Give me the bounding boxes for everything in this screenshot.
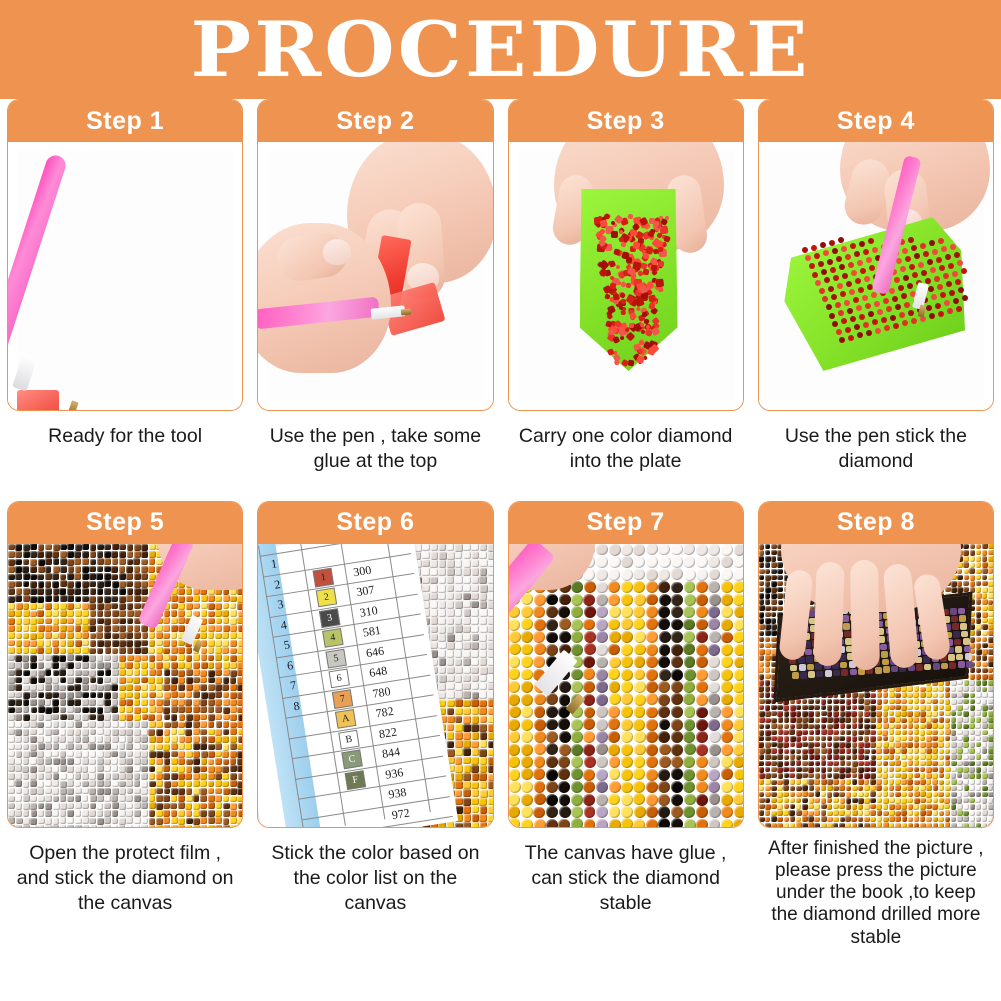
- step-card-7[interactable]: Step 7: [508, 501, 744, 828]
- step-photo-1: [8, 142, 242, 410]
- red-drill-cloud: [518, 151, 734, 401]
- step-caption-7: The canvas have glue , can stick the dia…: [508, 828, 744, 917]
- finger: [813, 561, 845, 666]
- step-card-6[interactable]: Step 6 SerialSymbolDMC121300323074331054…: [257, 501, 493, 828]
- step-caption-2: Use the pen , take some glue at the top: [257, 411, 493, 475]
- step-cell-2: Step 2: [250, 99, 500, 475]
- page-title: PROCEDURE: [190, 12, 810, 88]
- step-photo-8: [759, 544, 993, 827]
- step-header-7: Step 7: [509, 502, 743, 544]
- step-caption-6: Stick the color based on the color list …: [257, 828, 493, 917]
- step-cell-1: Step 1: [0, 99, 250, 475]
- step-header-label-1: Step 1: [86, 107, 164, 136]
- step-caption-4: Use the pen stick the diamond: [758, 411, 994, 475]
- pink-pen-icon: [8, 153, 68, 354]
- glue-square-icon: [17, 390, 59, 410]
- step-caption-8: After finished the picture , please pres…: [758, 828, 994, 949]
- step-card-8[interactable]: Step 8: [758, 501, 994, 828]
- step-caption-5: Open the protect film , and stick the di…: [7, 828, 243, 917]
- step-card-5[interactable]: Step 5: [7, 501, 243, 828]
- step-photo-6: SerialSymbolDMC1213003230743310545816564…: [258, 544, 492, 827]
- step-cell-4: Step 4: [751, 99, 1001, 475]
- step-header-label-8: Step 8: [837, 508, 915, 537]
- page-banner: PROCEDURE: [0, 0, 1001, 99]
- pen-nib-icon: [66, 400, 78, 410]
- step-cell-3: Step 3 Carry one color diamond into t: [501, 99, 751, 475]
- step-card-1[interactable]: Step 1: [7, 99, 243, 411]
- step-header-4: Step 4: [759, 100, 993, 142]
- step-photo-5: [8, 544, 242, 827]
- steps-grid: Step 1: [0, 99, 1001, 949]
- step-photo-2: [258, 142, 492, 410]
- color-chart-table: SerialSymbolDMC1213003230743310545816564…: [258, 544, 492, 827]
- step-caption-3: Carry one color diamond into the plate: [508, 411, 744, 475]
- step-header-5: Step 5: [8, 502, 242, 544]
- step-header-label-3: Step 3: [587, 107, 665, 136]
- step-header-label-7: Step 7: [587, 508, 665, 537]
- step-header-label-5: Step 5: [86, 508, 164, 537]
- step-card-3[interactable]: Step 3: [508, 99, 744, 411]
- step-photo-3: [509, 142, 743, 410]
- step-cell-8: Step 8 After finished the picture , plea…: [751, 501, 1001, 949]
- step-photo-4: [759, 142, 993, 410]
- step-photo-7: [509, 544, 743, 827]
- step-header-label-2: Step 2: [336, 107, 414, 136]
- step-header-label-4: Step 4: [837, 107, 915, 136]
- pen-nib-icon: [401, 308, 412, 315]
- step-cell-6: Step 6 SerialSymbolDMC121300323074331054…: [250, 501, 500, 949]
- finger: [850, 559, 880, 669]
- step-card-4[interactable]: Step 4: [758, 99, 994, 411]
- step-header-1: Step 1: [8, 100, 242, 142]
- step-cell-5: Step 5 Open the protect film , and stick…: [0, 501, 250, 949]
- step-header-8: Step 8: [759, 502, 993, 544]
- step-card-2[interactable]: Step 2: [257, 99, 493, 411]
- step-caption-1: Ready for the tool: [7, 411, 243, 449]
- steps-row-bottom: Step 5 Open the protect film , and stick…: [0, 501, 1001, 949]
- step-header-2: Step 2: [258, 100, 492, 142]
- step-header-3: Step 3: [509, 100, 743, 142]
- steps-row-top: Step 1: [0, 99, 1001, 475]
- step-header-label-6: Step 6: [336, 508, 414, 537]
- step-cell-7: Step 7 The canvas have glue , can stick …: [501, 501, 751, 949]
- step-header-6: Step 6: [258, 502, 492, 544]
- fingernail: [323, 239, 351, 265]
- pen-ferrule: [12, 355, 37, 392]
